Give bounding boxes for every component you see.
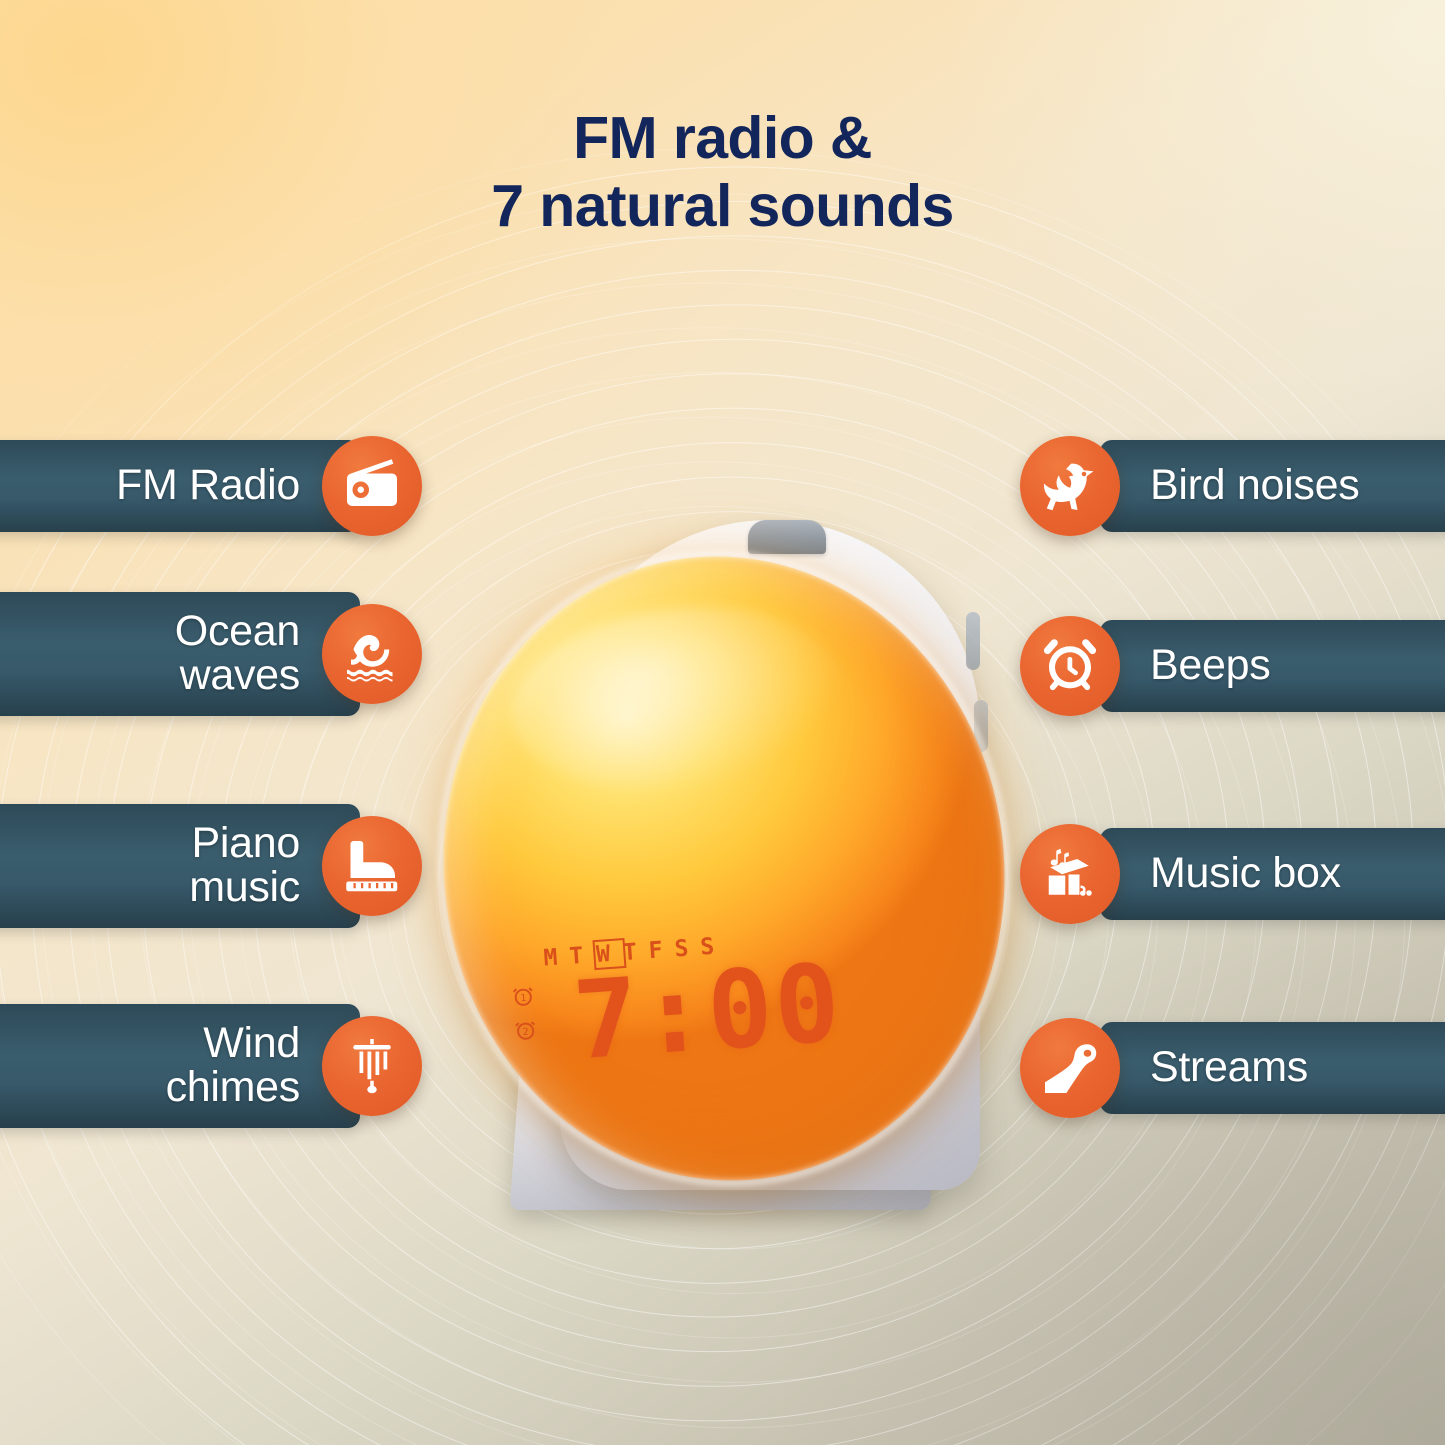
feature-pill[interactable]: FM Radio bbox=[0, 440, 428, 532]
svg-text:2: 2 bbox=[522, 1027, 529, 1038]
feature-label: Bird noises bbox=[1120, 464, 1359, 508]
feature-pill[interactable]: Streams bbox=[1020, 1022, 1445, 1114]
feature-label: Ocean waves bbox=[0, 610, 322, 698]
stream-icon[interactable] bbox=[1020, 1018, 1120, 1118]
svg-text:1: 1 bbox=[520, 993, 527, 1004]
device-top-knob[interactable] bbox=[748, 520, 826, 554]
feature-pill[interactable]: Beeps bbox=[1020, 620, 1445, 712]
poster-canvas: FM radio & 7 natural sounds MTWTFSS 1 bbox=[0, 0, 1445, 1445]
title-line-2: 7 natural sounds bbox=[0, 172, 1445, 240]
feature-pill[interactable]: Ocean waves bbox=[0, 592, 428, 716]
piano-icon[interactable] bbox=[322, 816, 422, 916]
feature-label: Beeps bbox=[1120, 644, 1270, 688]
alarm-clock-icon[interactable] bbox=[1020, 616, 1120, 716]
title-line-1: FM radio & bbox=[573, 105, 872, 171]
bird-icon[interactable] bbox=[1020, 436, 1120, 536]
feature-pill[interactable]: Wind chimes bbox=[0, 1004, 428, 1128]
feature-label: Music box bbox=[1120, 852, 1341, 896]
page-title: FM radio & 7 natural sounds bbox=[0, 104, 1445, 241]
feature-pill[interactable]: Piano music bbox=[0, 804, 428, 928]
feature-pill[interactable]: Bird noises bbox=[1020, 440, 1445, 532]
alarm-2-icon: 2 bbox=[512, 1016, 540, 1044]
wind-chimes-icon[interactable] bbox=[322, 1016, 422, 1116]
feature-label: Wind chimes bbox=[0, 1022, 322, 1110]
feature-label: FM Radio bbox=[0, 464, 322, 508]
feature-label: Streams bbox=[1120, 1046, 1308, 1090]
clock-display: MTWTFSS 1 2 7:00 bbox=[501, 928, 809, 1079]
feature-label: Piano music bbox=[0, 822, 322, 910]
alarm-1-icon: 1 bbox=[509, 982, 537, 1010]
feature-pill[interactable]: Music box bbox=[1020, 828, 1445, 920]
wave-icon[interactable] bbox=[322, 604, 422, 704]
clock-time: 7:00 bbox=[570, 949, 845, 1075]
radio-icon[interactable] bbox=[322, 436, 422, 536]
device-side-button-1[interactable] bbox=[966, 612, 980, 670]
alarm-indicator-group: 1 2 bbox=[509, 982, 540, 1052]
day-0: M bbox=[543, 944, 571, 972]
music-box-icon[interactable] bbox=[1020, 824, 1120, 924]
